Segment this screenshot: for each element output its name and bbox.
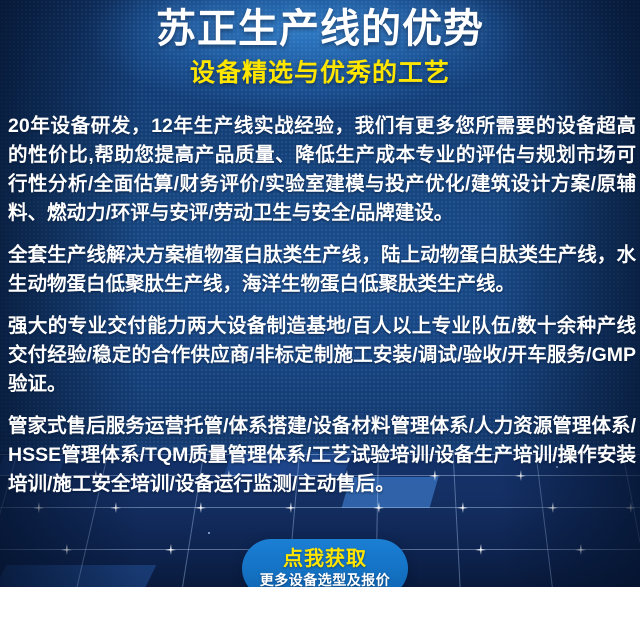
paragraph-after-sales: 管家式售后服务运营托管/体系搭建/设备材料管理体系/人力资源管理体系/HSSE管… <box>8 412 636 499</box>
promo-poster: 苏正生产线的优势 设备精选与优秀的工艺 20年设备研发，12年生产线实战经验，我… <box>0 0 640 631</box>
page-subtitle: 设备精选与优秀的工艺 <box>0 58 640 88</box>
bottom-white-strip <box>0 587 640 631</box>
page-title: 苏正生产线的优势 <box>0 6 640 52</box>
cta-main-label: 点我获取 <box>283 548 367 571</box>
paragraph-experience: 20年设备研发，12年生产线实战经验，我们有更多您所需要的设备超高的性价比,帮助… <box>8 112 636 228</box>
paragraph-delivery: 强大的专业交付能力两大设备制造基地/百人以上专业队伍/数十余种产线交付经验/稳定… <box>8 312 636 399</box>
poster-header: 苏正生产线的优势 设备精选与优秀的工艺 <box>0 0 640 104</box>
paragraph-solutions: 全套生产线解决方案植物蛋白肽类生产线，陆上动物蛋白肽类生产线，水生动物蛋白低聚肽… <box>8 241 636 299</box>
body-copy: 20年设备研发，12年生产线实战经验，我们有更多您所需要的设备超高的性价比,帮助… <box>8 112 636 499</box>
